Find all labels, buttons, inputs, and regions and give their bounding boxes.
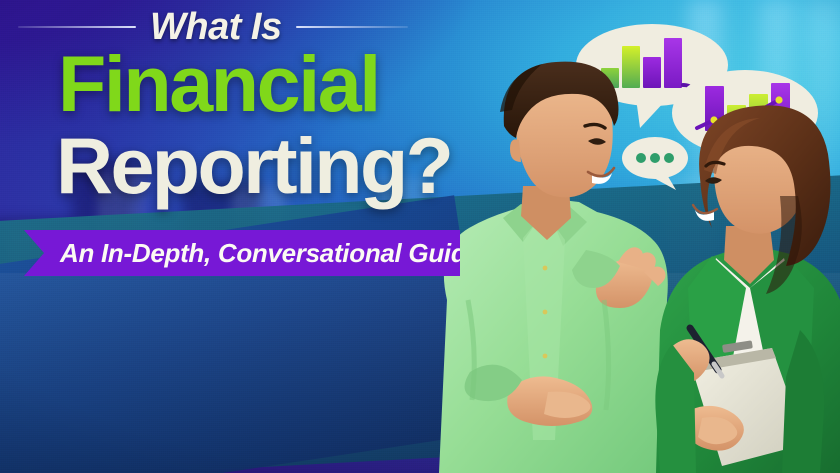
title-block: What Is Financial Reporting? An In-Depth… (0, 0, 470, 300)
woman-listening (655, 105, 840, 473)
horizontal-rule-right-icon (296, 26, 408, 28)
financial-reporting-banner: What Is Financial Reporting? An In-Depth… (0, 0, 840, 473)
man-shirt-button-2 (543, 310, 548, 315)
man-shirt-button-3 (543, 354, 548, 359)
subtitle-text: An In-Depth, Conversational Guide (60, 240, 481, 266)
man-speaking (439, 62, 668, 473)
horizontal-rule-left-icon (18, 26, 136, 28)
headline-line-1: Financial (58, 44, 379, 123)
subtitle-ribbon: An In-Depth, Conversational Guide (24, 230, 460, 276)
headline-line-2: Reporting? (56, 126, 451, 205)
man-shirt-button-1 (543, 266, 548, 271)
